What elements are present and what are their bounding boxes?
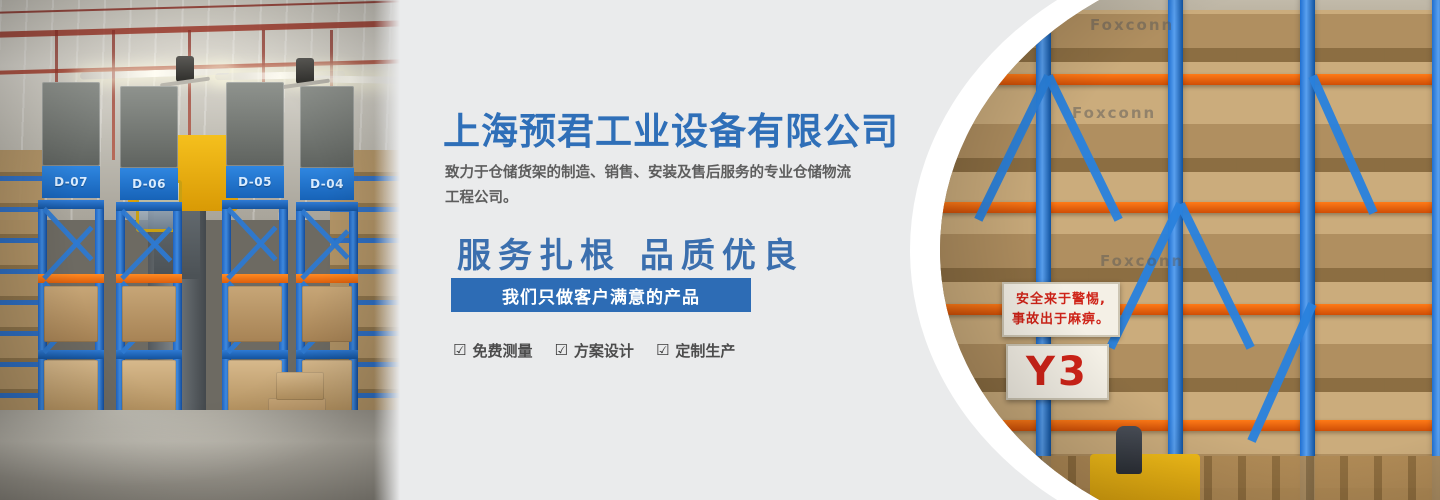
feature-item-plan-design[interactable]: ☑ 方案设计 bbox=[554, 340, 633, 361]
rack-label: D-06 bbox=[120, 168, 178, 200]
rack-label: D-05 bbox=[226, 166, 284, 198]
feature-label: 定制生产 bbox=[675, 340, 735, 361]
warehouse-floor bbox=[0, 410, 400, 500]
company-subtitle: 致力于仓储货架的制造、销售、安装及售后服务的专业仓储物流工程公司。 bbox=[445, 161, 863, 212]
feature-label: 免费测量 bbox=[472, 340, 532, 361]
company-slogan: 服务扎根 品质优良 bbox=[457, 228, 804, 277]
hero-banner: D-07 D-06 bbox=[0, 0, 1440, 500]
company-title: 上海预君工业设备有限公司 bbox=[443, 101, 899, 155]
feature-item-custom-production[interactable]: ☑ 定制生产 bbox=[656, 340, 735, 361]
feature-label: 方案设计 bbox=[574, 340, 634, 361]
checkbox-checked-icon: ☑ bbox=[656, 343, 669, 358]
stacked-carton bbox=[276, 372, 324, 400]
ceiling-fan bbox=[296, 58, 314, 84]
hero-content: 上海预君工业设备有限公司 致力于仓储货架的制造、销售、安装及售后服务的专业仓储物… bbox=[443, 0, 913, 500]
photo-vignette bbox=[940, 0, 1440, 500]
promise-badge[interactable]: 我们只做客户满意的产品 bbox=[451, 278, 751, 312]
checkbox-checked-icon: ☑ bbox=[453, 343, 466, 358]
feature-item-free-measure[interactable]: ☑ 免费测量 bbox=[453, 340, 532, 361]
rack-label: D-07 bbox=[42, 166, 100, 198]
left-warehouse-photo: D-07 D-06 bbox=[0, 0, 400, 500]
ceiling-hanger bbox=[112, 30, 115, 160]
ceiling-fan bbox=[176, 56, 194, 82]
rack-bay: D-06 bbox=[116, 202, 182, 430]
rack-label: D-04 bbox=[300, 168, 354, 200]
checkbox-checked-icon: ☑ bbox=[554, 343, 567, 358]
right-photo-wrapper: Foxconn Foxconn Foxconn 安全来于警惕, 事故出于麻痹。 … bbox=[900, 0, 1440, 500]
right-warehouse-photo: Foxconn Foxconn Foxconn 安全来于警惕, 事故出于麻痹。 … bbox=[940, 0, 1440, 500]
photo-fade-edge bbox=[374, 0, 400, 500]
rack-bay: D-07 bbox=[38, 200, 104, 430]
feature-list: ☑ 免费测量 ☑ 方案设计 ☑ 定制生产 bbox=[453, 340, 735, 361]
